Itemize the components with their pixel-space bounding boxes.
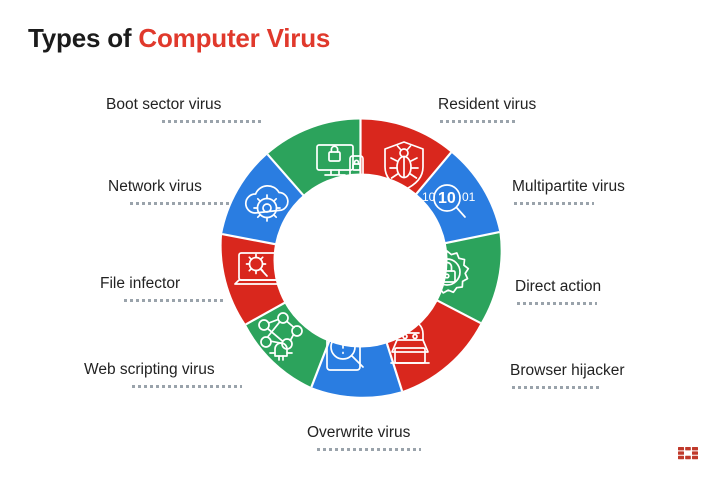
segment-label-browser-hijacker-rule: [512, 386, 600, 389]
segment-label-web-scripting[interactable]: Web scripting virus: [84, 361, 244, 388]
segment-label-multipartite-text: Multipartite virus: [512, 178, 625, 196]
segment-label-network[interactable]: Network virus: [108, 178, 232, 205]
segment-label-direct-action-text: Direct action: [515, 278, 601, 296]
segment-label-resident-rule: [440, 120, 518, 123]
segment-label-direct-action[interactable]: Direct action: [515, 278, 601, 305]
brand-logo-icon: [677, 442, 699, 464]
segment-label-browser-hijacker-text: Browser hijacker: [510, 362, 625, 380]
segment-label-resident[interactable]: Resident virus: [438, 96, 536, 123]
page-title-prefix: Types of: [28, 23, 138, 53]
segment-label-network-rule: [130, 202, 230, 205]
segment-label-file-infector-rule: [124, 299, 224, 302]
brand-logo[interactable]: [677, 442, 699, 464]
donut-chart-svg: 10 10 01: [219, 119, 502, 402]
segment-label-file-infector-text: File infector: [100, 275, 226, 293]
segment-label-boot-sector-text: Boot sector virus: [106, 96, 264, 114]
segment-label-overwrite-rule: [317, 448, 421, 451]
segment-label-multipartite[interactable]: Multipartite virus: [512, 178, 625, 205]
page-title: Types of Computer Virus: [28, 23, 330, 54]
segment-label-direct-action-rule: [517, 302, 597, 305]
segment-label-network-text: Network virus: [108, 178, 232, 196]
segment-label-web-scripting-rule: [132, 385, 242, 388]
segment-label-multipartite-rule: [514, 202, 594, 205]
svg-text:01: 01: [462, 190, 476, 204]
donut-chart: 10 10 01: [219, 119, 502, 402]
page-title-highlight: Computer Virus: [138, 23, 330, 53]
segment-label-overwrite-text: Overwrite virus: [307, 424, 421, 442]
segment-label-overwrite[interactable]: Overwrite virus: [307, 424, 421, 451]
segment-label-boot-sector[interactable]: Boot sector virus: [106, 96, 264, 123]
svg-text:10: 10: [438, 190, 456, 207]
segment-label-web-scripting-text: Web scripting virus: [84, 361, 244, 379]
segment-label-resident-text: Resident virus: [438, 96, 536, 114]
segment-label-file-infector[interactable]: File infector: [100, 275, 226, 302]
segment-label-browser-hijacker[interactable]: Browser hijacker: [510, 362, 625, 389]
segment-label-boot-sector-rule: [162, 120, 262, 123]
